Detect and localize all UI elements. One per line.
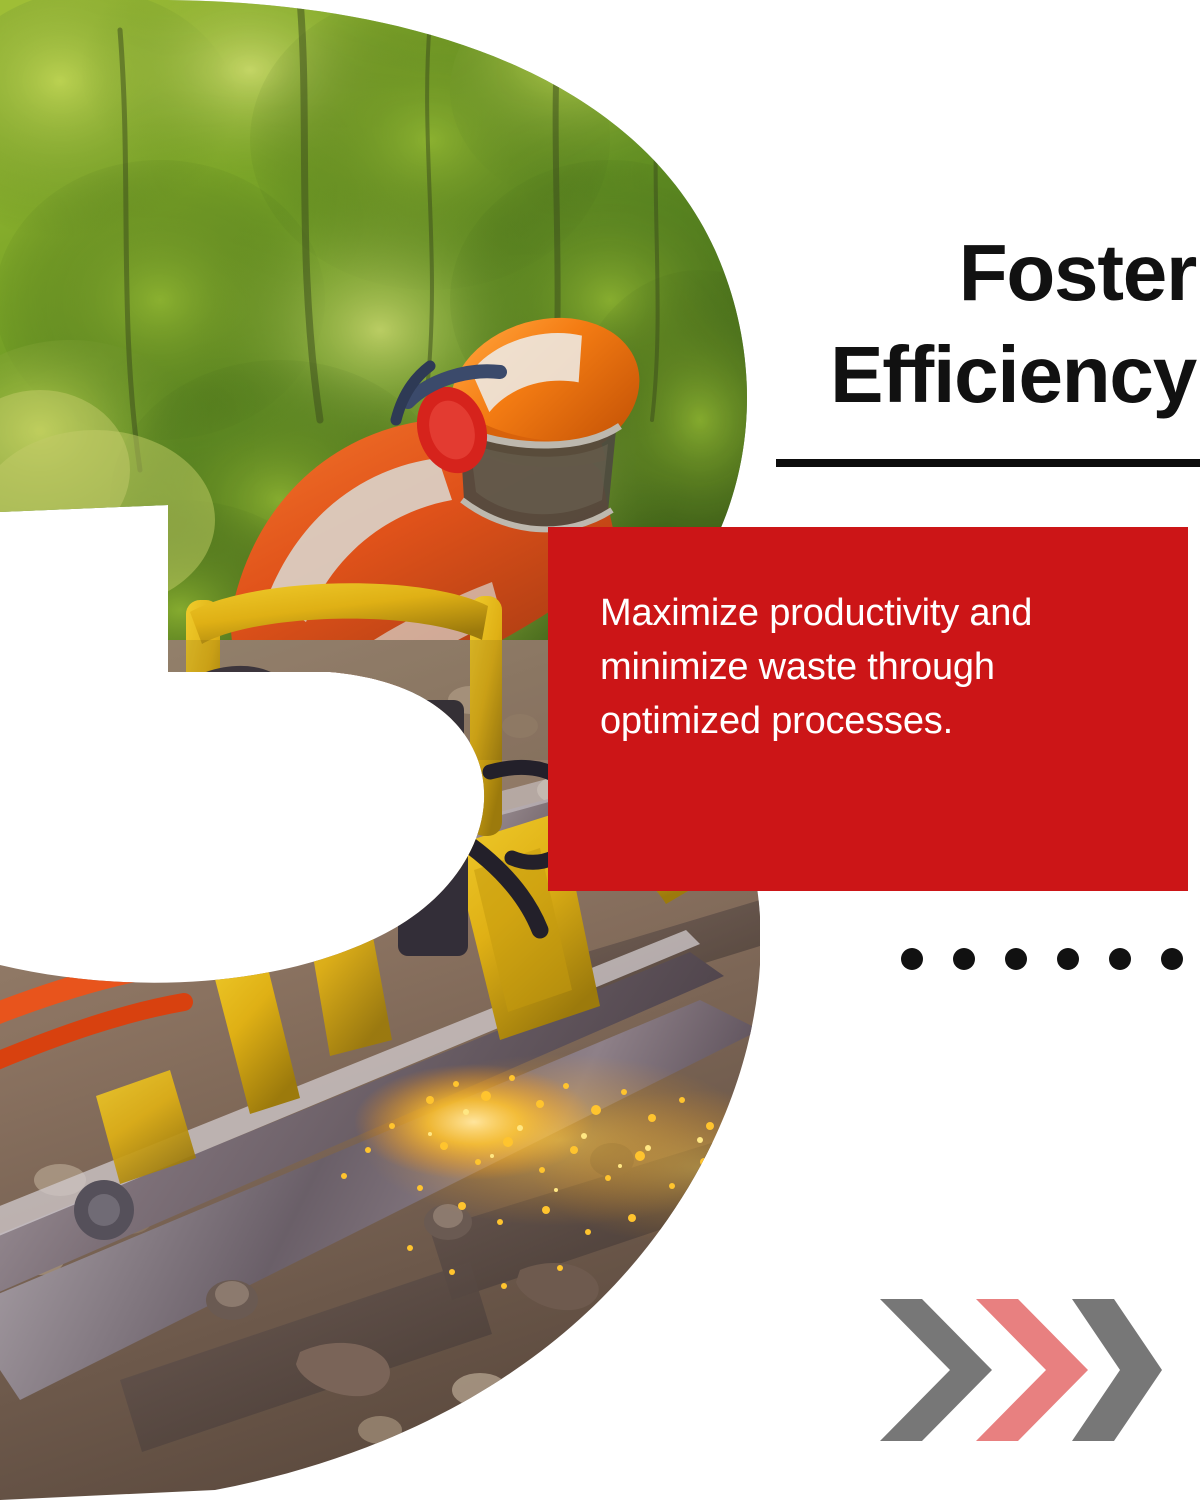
dot-separator	[901, 948, 1183, 970]
dot-1	[901, 948, 923, 970]
description-panel: Maximize productivity and minimize waste…	[548, 527, 1188, 891]
description-text: Maximize productivity and minimize waste…	[600, 587, 1124, 749]
page-title: Foster Efficiency	[700, 222, 1200, 427]
dot-2	[953, 948, 975, 970]
poster-canvas: Foster Efficiency Maximize productivity …	[0, 0, 1200, 1500]
dot-5	[1109, 948, 1131, 970]
dot-4	[1057, 948, 1079, 970]
dot-6	[1161, 948, 1183, 970]
title-line-1: Foster	[700, 222, 1196, 324]
dot-3	[1005, 948, 1027, 970]
title-underline-rule	[776, 459, 1200, 467]
chevron-right-icon-2	[976, 1299, 1088, 1441]
title-line-2: Efficiency	[700, 324, 1196, 426]
chevron-right-icon-1	[880, 1299, 992, 1441]
chevron-arrows-svg	[876, 1295, 1166, 1445]
chevron-arrows	[876, 1295, 1166, 1445]
